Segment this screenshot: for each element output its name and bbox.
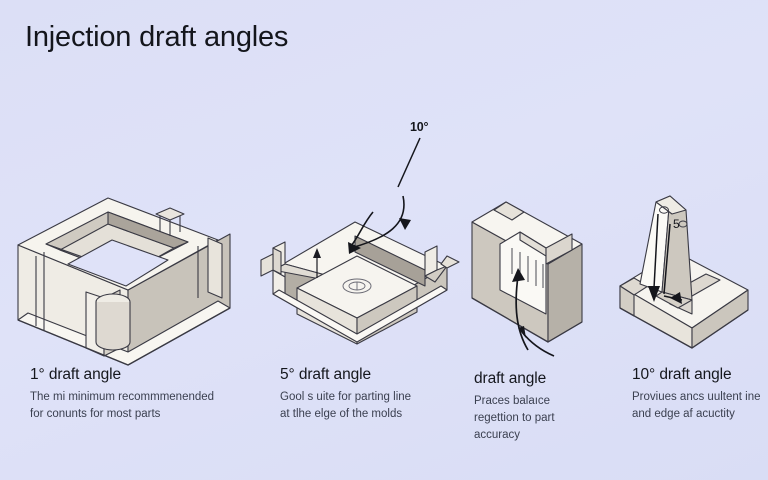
rib-label: 5 (673, 217, 680, 231)
caption-open-box-mold: 1° draft angle The mi minimum recommmene… (30, 366, 214, 423)
caption-body: The mi minimum recommmenended for conunt… (30, 389, 214, 423)
caption-line: regettion to part (474, 410, 555, 427)
caption-line: Gool s uite for parting line (280, 389, 411, 406)
caption-line: The mi minimum recommmenended (30, 389, 214, 406)
caption-body: Gool s uite for parting line at tlhe elg… (280, 389, 411, 423)
caption-body: Proviues ancs uultent ine and edge af ac… (632, 389, 761, 423)
caption-heading: 10° draft angle (632, 366, 761, 384)
figure-open-box-mold (8, 180, 238, 380)
figure-core-cavity-mold (255, 190, 465, 390)
caption-line: at tlhe elge of the molds (280, 406, 411, 423)
caption-angled-bracket-base: 10° draft angle Proviues ancs uultent in… (632, 366, 761, 423)
caption-heading: draft angle (474, 370, 555, 388)
caption-line: for conunts for most parts (30, 406, 214, 423)
caption-body: Praces balaıce regettion to part accurac… (474, 393, 555, 444)
caption-ribbed-slab: draft angle Praces balaıce regettion to … (474, 370, 555, 444)
caption-heading: 5° draft angle (280, 366, 411, 384)
caption-line: and edge af acuctity (632, 406, 761, 423)
figure-ribbed-slab (462, 190, 612, 390)
caption-heading: 1° draft angle (30, 366, 214, 384)
figure-angled-bracket-base: 5 (600, 180, 765, 380)
angle-callout-leader (390, 135, 450, 195)
caption-core-cavity-mold: 5° draft angle Gool s uite for parting l… (280, 366, 411, 423)
caption-line: Proviues ancs uultent ine (632, 389, 761, 406)
diagram-canvas: Injection draft angles (0, 0, 768, 480)
caption-line: Praces balaıce (474, 393, 555, 410)
caption-line: accuracy (474, 427, 555, 444)
angle-callout-label: 10° (410, 120, 428, 134)
page-title: Injection draft angles (25, 21, 288, 54)
